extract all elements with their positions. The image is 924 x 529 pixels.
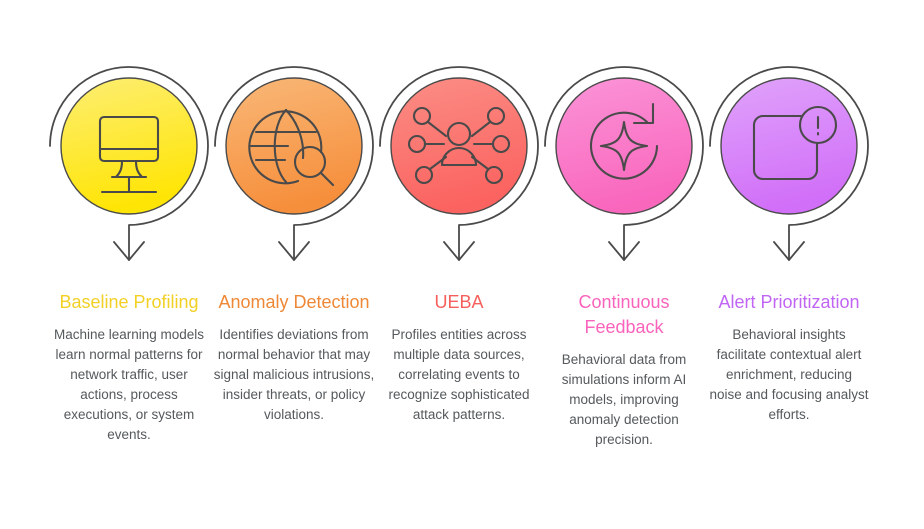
stage-node-graphic <box>374 46 544 278</box>
process-stage-continuous-feedback[interactable]: Continuous Feedback Behavioral data from… <box>539 0 709 529</box>
stage-text-block: Baseline Profiling Machine learning mode… <box>44 290 214 445</box>
stage-description: Profiles entities across multiple data s… <box>378 325 540 425</box>
stage-title: Baseline Profiling <box>48 290 210 315</box>
stage-node[interactable] <box>539 46 709 278</box>
stage-node-graphic <box>704 46 874 278</box>
process-stage-alert-prioritization[interactable]: Alert Prioritization Behavioral insights… <box>704 0 874 529</box>
process-stage-baseline-profiling[interactable]: Baseline Profiling Machine learning mode… <box>44 0 214 529</box>
stage-circle <box>556 78 692 214</box>
stage-circle <box>721 78 857 214</box>
stage-node-graphic <box>539 46 709 278</box>
stage-title: Anomaly Detection <box>213 290 375 315</box>
stage-description: Identifies deviations from normal behavi… <box>213 325 375 425</box>
stage-node[interactable] <box>44 46 214 278</box>
stage-description: Machine learning models learn normal pat… <box>48 325 210 445</box>
process-flow-diagram: Baseline Profiling Machine learning mode… <box>0 0 924 529</box>
stage-circle <box>226 78 362 214</box>
stage-description: Behavioral data from simulations inform … <box>543 350 705 450</box>
stage-title: Continuous Feedback <box>543 290 705 340</box>
stage-node[interactable] <box>209 46 379 278</box>
stage-title: Alert Prioritization <box>708 290 870 315</box>
stage-circle <box>61 78 197 214</box>
stage-node-graphic <box>209 46 379 278</box>
stage-title: UEBA <box>378 290 540 315</box>
process-stage-ueba[interactable]: UEBA Profiles entities across multiple d… <box>374 0 544 529</box>
stage-node[interactable] <box>374 46 544 278</box>
stage-node-graphic <box>44 46 214 278</box>
stage-text-block: UEBA Profiles entities across multiple d… <box>374 290 544 425</box>
stage-description: Behavioral insights facilitate contextua… <box>708 325 870 425</box>
stage-text-block: Continuous Feedback Behavioral data from… <box>539 290 709 450</box>
stage-text-block: Alert Prioritization Behavioral insights… <box>704 290 874 425</box>
stage-node[interactable] <box>704 46 874 278</box>
stage-text-block: Anomaly Detection Identifies deviations … <box>209 290 379 425</box>
process-stage-anomaly-detection[interactable]: Anomaly Detection Identifies deviations … <box>209 0 379 529</box>
